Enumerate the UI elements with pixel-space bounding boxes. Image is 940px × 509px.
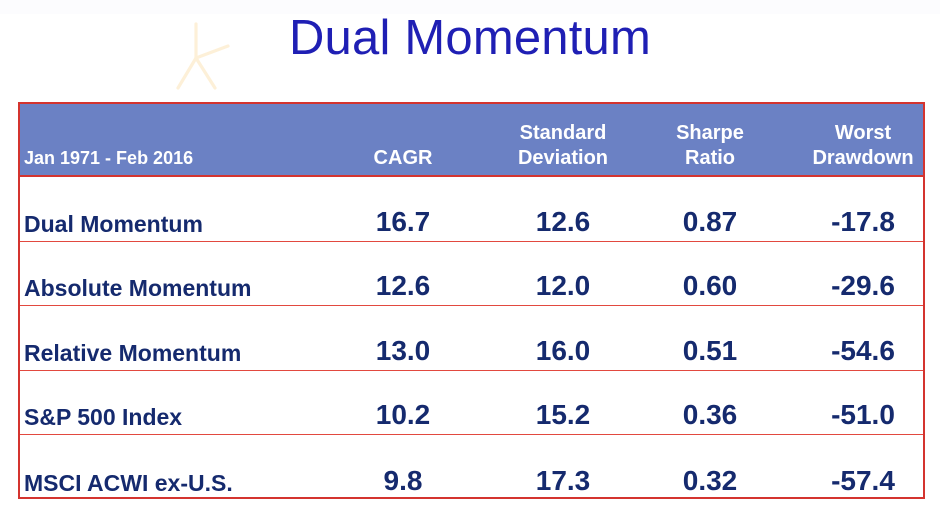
cell-cagr: 13.0 xyxy=(376,335,431,367)
column-header-standard-deviation: Standard Deviation xyxy=(518,121,608,171)
cell-worst-drawdown: -51.0 xyxy=(831,399,895,431)
column-header-period: Jan 1971 - Feb 2016 xyxy=(24,146,193,171)
row-label: S&P 500 Index xyxy=(24,404,182,431)
cell-worst-drawdown: -54.6 xyxy=(831,335,895,367)
cell-worst-drawdown: -57.4 xyxy=(831,465,895,497)
cell-sharpe-ratio: 0.36 xyxy=(683,399,738,431)
row-label: Absolute Momentum xyxy=(24,275,251,302)
cell-cagr: 9.8 xyxy=(384,465,423,497)
cell-cagr: 12.6 xyxy=(376,270,431,302)
cell-sharpe-ratio: 0.60 xyxy=(683,270,738,302)
cell-sharpe-ratio: 0.32 xyxy=(683,465,738,497)
cell-cagr: 10.2 xyxy=(376,399,431,431)
table-row: MSCI ACWI ex-U.S. 9.8 17.3 0.32 -57.4 xyxy=(20,435,923,500)
column-header-worst-drawdown: Worst Drawdown xyxy=(812,121,913,171)
cell-standard-deviation: 17.3 xyxy=(536,465,591,497)
table-row: Absolute Momentum 12.6 12.0 0.60 -29.6 xyxy=(20,242,923,307)
cell-sharpe-ratio: 0.87 xyxy=(683,206,738,238)
cell-standard-deviation: 16.0 xyxy=(536,335,591,367)
table-row: Dual Momentum 16.7 12.6 0.87 -17.8 xyxy=(20,177,923,242)
table-row: Relative Momentum 13.0 16.0 0.51 -54.6 xyxy=(20,306,923,371)
cell-cagr: 16.7 xyxy=(376,206,431,238)
table-header-row: Jan 1971 - Feb 2016 CAGR Standard Deviat… xyxy=(20,104,923,177)
row-label: Relative Momentum xyxy=(24,340,241,367)
cell-sharpe-ratio: 0.51 xyxy=(683,335,738,367)
row-label: Dual Momentum xyxy=(24,211,203,238)
performance-table: Jan 1971 - Feb 2016 CAGR Standard Deviat… xyxy=(18,102,925,499)
cell-worst-drawdown: -17.8 xyxy=(831,206,895,238)
column-header-sharpe-ratio: Sharpe Ratio xyxy=(676,121,744,171)
cell-worst-drawdown: -29.6 xyxy=(831,270,895,302)
cell-standard-deviation: 12.0 xyxy=(536,270,591,302)
row-label: MSCI ACWI ex-U.S. xyxy=(24,470,233,497)
slide-canvas: Dual Momentum Jan 1971 - Feb 2016 CAGR S… xyxy=(0,0,940,509)
table-row: S&P 500 Index 10.2 15.2 0.36 -51.0 xyxy=(20,371,923,436)
column-header-cagr: CAGR xyxy=(374,146,433,171)
cell-standard-deviation: 15.2 xyxy=(536,399,591,431)
cell-standard-deviation: 12.6 xyxy=(536,206,591,238)
page-title: Dual Momentum xyxy=(0,6,940,70)
